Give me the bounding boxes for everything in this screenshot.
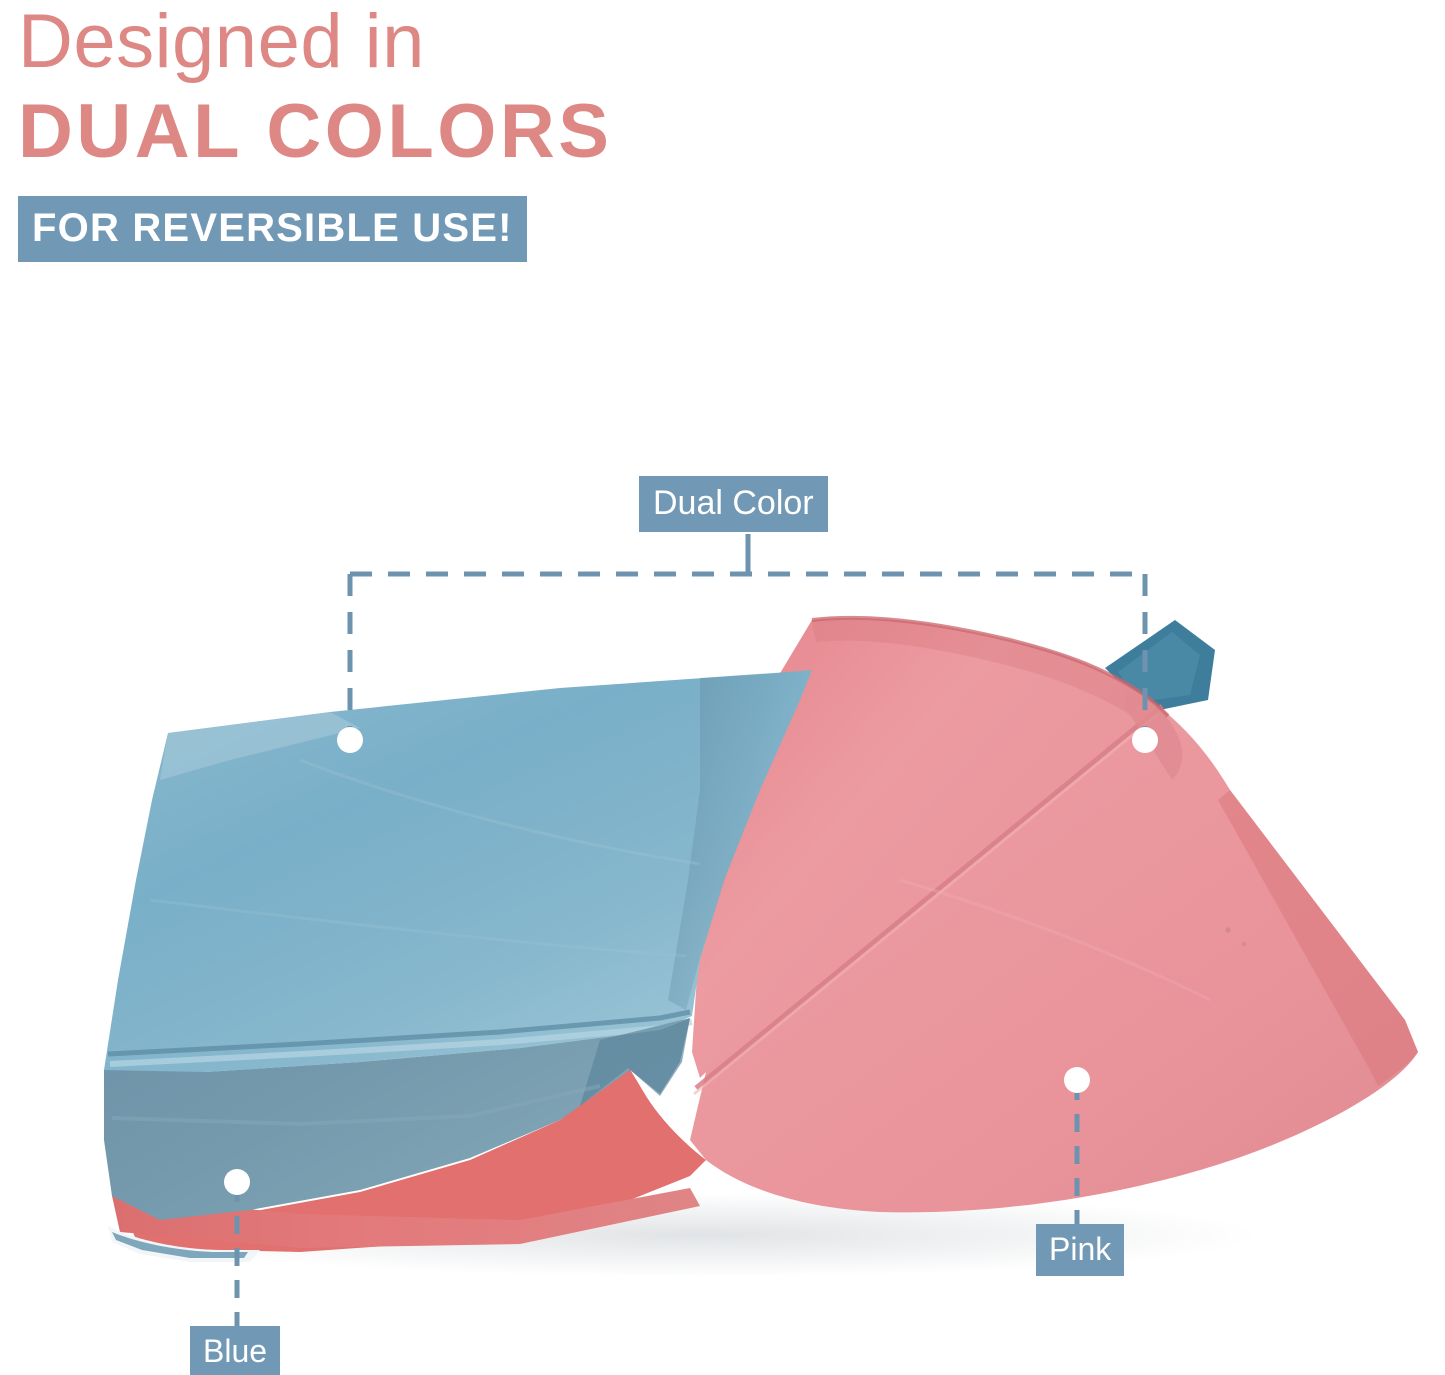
blue-fold-crease-highlight — [110, 1022, 692, 1064]
pink-top-notch — [1124, 690, 1182, 780]
pink-top-contour — [812, 618, 1168, 716]
dot-blue — [224, 1169, 250, 1195]
blue-lower-crease — [112, 1086, 600, 1124]
pink-speck-1 — [1225, 927, 1230, 932]
blue-fold-crease-upper — [108, 1012, 690, 1054]
headline-line-2: DUAL COLORS — [18, 90, 818, 174]
headline-block: Designed in DUAL COLORS FOR REVERSIBLE U… — [18, 0, 818, 262]
pink-under-fold-tongue — [130, 1066, 706, 1252]
blanket-left-tip-sliver — [108, 1226, 260, 1262]
infographic-page: Designed in DUAL COLORS FOR REVERSIBLE U… — [0, 0, 1445, 1375]
pink-bottom-edge-band — [112, 1188, 700, 1248]
blue-panel-lower — [104, 1018, 690, 1220]
blue-peek-top-right-2 — [1118, 632, 1200, 702]
pink-diagonal-crease-highlight — [694, 714, 1158, 1094]
blanket-left-tip-blue-edge — [112, 1232, 248, 1258]
subheadline-band: FOR REVERSIBLE USE! — [18, 196, 527, 262]
pink-flap-upper — [692, 618, 1160, 1078]
pink-panel-main — [690, 618, 1418, 1213]
blue-crease-b — [150, 900, 686, 956]
dot-pink — [1064, 1067, 1090, 1093]
dot-dual-color-blue — [337, 727, 363, 753]
callout-label-blue: Blue — [190, 1326, 280, 1375]
blue-lower-tuck-shade — [580, 1018, 690, 1106]
pink-top-soft-shade — [812, 620, 1144, 716]
blue-top-left-highlight — [160, 712, 360, 780]
blue-right-shade — [668, 670, 812, 1010]
blue-peek-top-right — [1105, 620, 1215, 712]
blue-panel-top — [104, 670, 812, 1078]
pink-speck-2 — [1242, 942, 1246, 946]
blue-crease-a — [300, 760, 700, 864]
dot-dual-color-pink — [1132, 727, 1158, 753]
pink-diagonal-crease — [696, 706, 1162, 1088]
pink-crease-a — [900, 880, 1210, 1000]
headline-line-1: Designed in — [18, 0, 818, 84]
callout-label-pink: Pink — [1036, 1224, 1124, 1276]
pink-right-edge-trim — [1218, 790, 1418, 1086]
callout-label-dual-color: Dual Color — [639, 476, 828, 532]
